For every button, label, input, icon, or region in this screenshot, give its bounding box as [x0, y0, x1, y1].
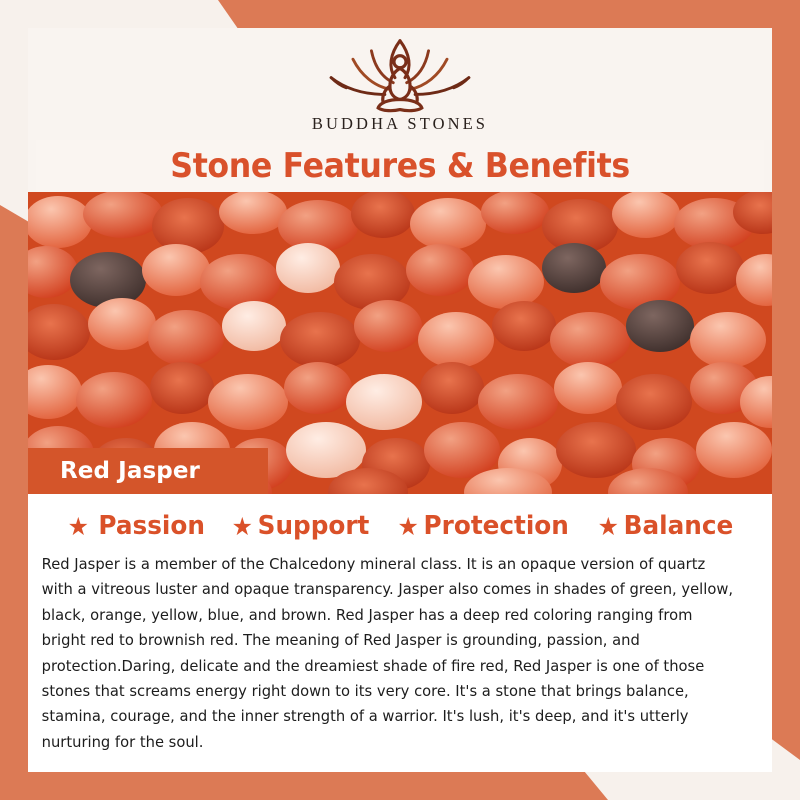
stone-name-label: Red Jasper — [28, 458, 200, 484]
benefit-label: Passion — [98, 511, 205, 541]
page-title: Stone Features & Benefits — [170, 146, 629, 186]
benefits-row: ★ Passion ★ Support ★ Protection ★ Balan… — [28, 494, 772, 541]
description-panel: ★ Passion ★ Support ★ Protection ★ Balan… — [28, 494, 772, 772]
lotus-meditation-icon — [316, 34, 484, 112]
red-jasper-stones-photo: Red Jasper — [28, 192, 772, 494]
title-strip: Stone Features & Benefits — [36, 140, 764, 192]
description-text: Red Jasper is a member of the Chalcedony… — [28, 552, 753, 755]
content-card: BUDDHA STONES Stone Features & Benefits — [28, 28, 772, 772]
brand-name: BUDDHA STONES — [312, 114, 488, 134]
benefit-item-support: ★ Support — [232, 511, 370, 541]
benefit-item-balance: ★ Balance — [597, 511, 733, 541]
stone-name-band: Red Jasper — [28, 448, 268, 494]
benefit-item-passion: ★ Passion — [67, 511, 204, 541]
star-icon: ★ — [67, 514, 88, 539]
star-icon: ★ — [398, 514, 419, 539]
benefit-label: Balance — [623, 511, 733, 541]
star-icon: ★ — [232, 514, 253, 539]
benefit-label: Protection — [424, 511, 569, 541]
benefit-label: Support — [258, 511, 370, 541]
benefit-item-protection: ★ Protection — [398, 511, 569, 541]
brand-logo: BUDDHA STONES — [28, 28, 772, 140]
star-icon: ★ — [597, 514, 618, 539]
infographic-page: BUDDHA STONES Stone Features & Benefits — [0, 0, 800, 800]
